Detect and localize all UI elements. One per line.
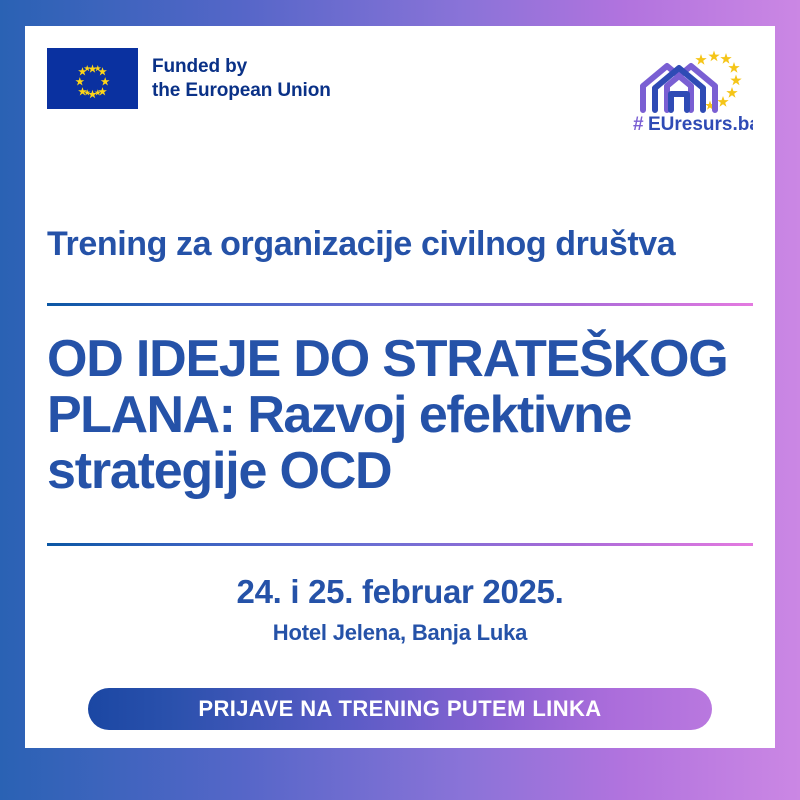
eu-flag-icon: [47, 48, 138, 109]
kicker-text: Trening za organizacije civilnog društva: [47, 226, 753, 263]
eu-funded-text: Funded by the European Union: [152, 55, 331, 103]
divider-top: [47, 303, 753, 306]
svg-text:#: #: [633, 114, 644, 134]
page-title: OD IDEJE DO STRATEŠKOG PLANA: Razvoj efe…: [47, 331, 765, 499]
eu-funded-line2: the European Union: [152, 79, 331, 103]
registration-link-button[interactable]: PRIJAVE NA TRENING PUTEM LINKA: [88, 688, 712, 730]
eu-funded-line1: Funded by: [152, 55, 331, 79]
headline-line-1: OD IDEJE DO STRATEŠKOG: [47, 331, 765, 387]
poster-card: Funded by the European Union: [25, 26, 775, 748]
headline-line-2: PLANA: Razvoj efektivne: [47, 387, 765, 443]
svg-text:EUresurs.ba: EUresurs.ba: [648, 114, 753, 134]
event-venue: Hotel Jelena, Banja Luka: [47, 620, 753, 646]
event-date: 24. i 25. februar 2025.: [47, 573, 753, 611]
headline-line-3: strategije OCD: [47, 443, 765, 499]
divider-bottom: [47, 543, 753, 546]
header: Funded by the European Union: [47, 40, 753, 140]
poster-frame: Funded by the European Union: [0, 0, 800, 800]
eu-funded-lockup: Funded by the European Union: [47, 48, 331, 109]
euresurs-logo[interactable]: # EUresurs.ba: [625, 42, 753, 134]
